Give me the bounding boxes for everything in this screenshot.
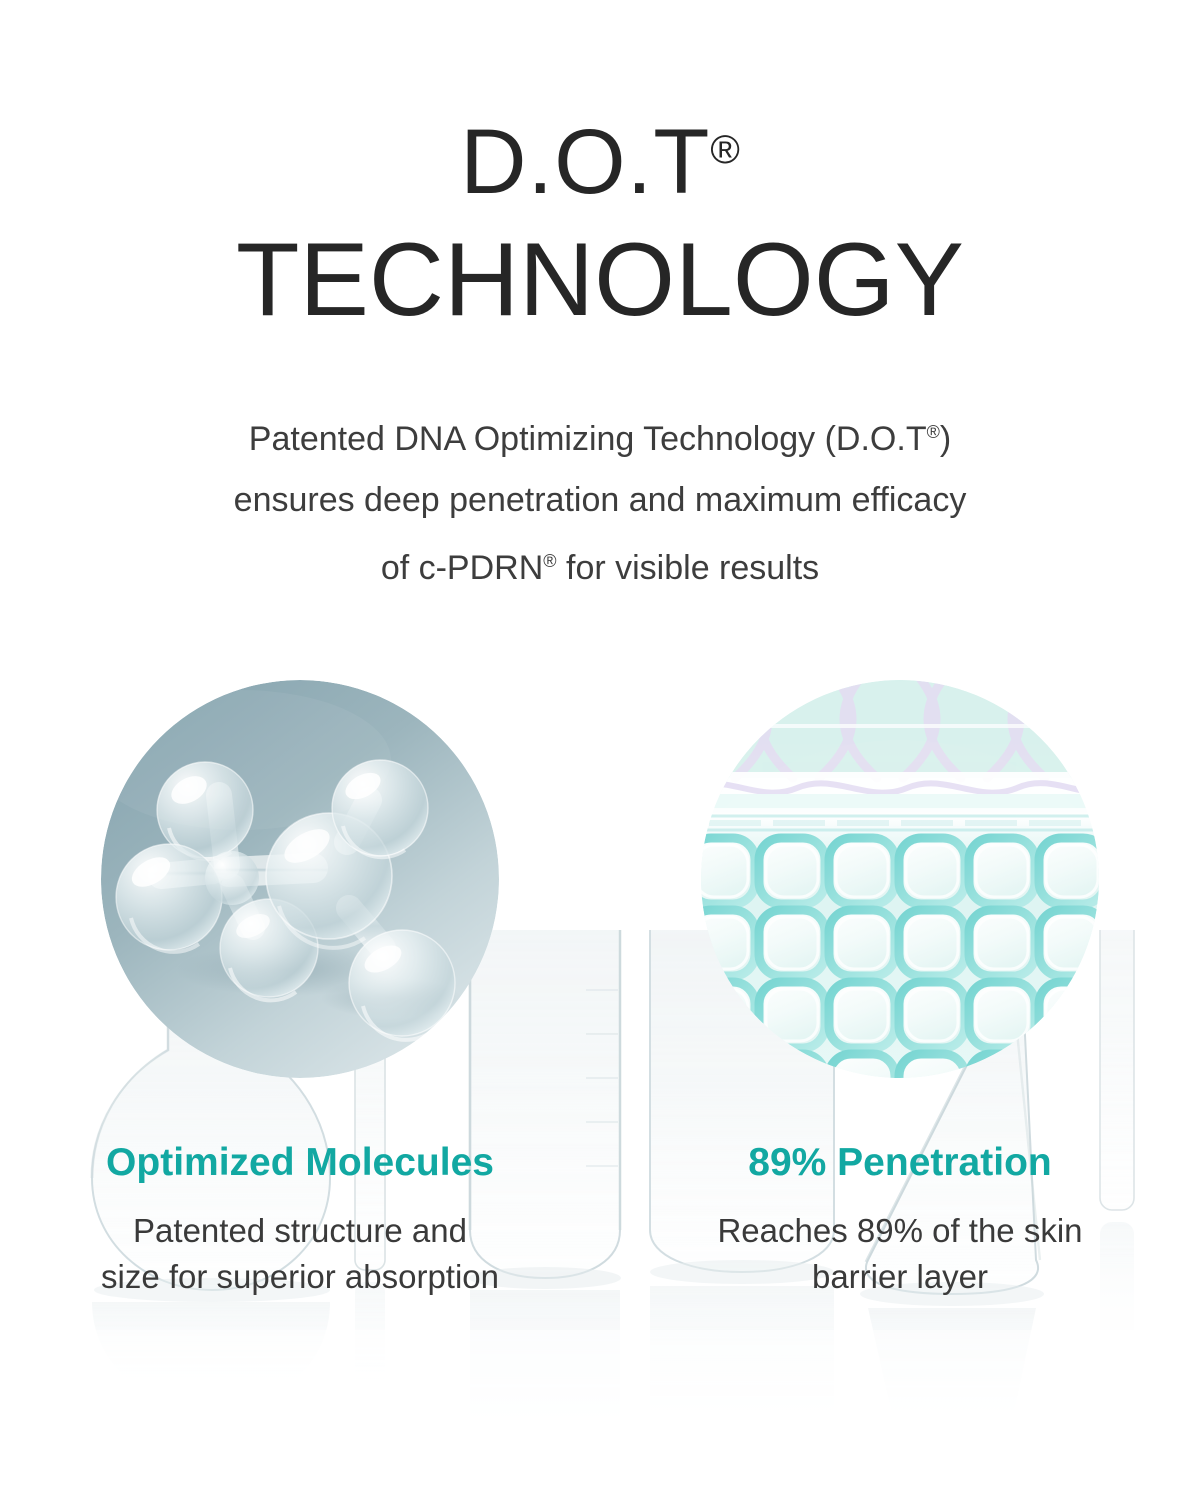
skin-penetration-image — [701, 680, 1099, 1078]
title-line-dot: D.O.T® — [0, 98, 1200, 214]
subtitle-line-1: Patented DNA Optimizing Technology (D.O.… — [100, 402, 1100, 470]
subtitle-line-3: of c-PDRN® for visible results — [100, 531, 1100, 599]
registered-trademark-icon: ® — [710, 128, 739, 172]
feature-title-penetration: 89% Penetration — [748, 1140, 1051, 1186]
feature-description-optimized-molecules: Patented structure and size for superior… — [100, 1208, 500, 1300]
page-title: D.O.T® TECHNOLOGY — [0, 98, 1200, 336]
feature-title-optimized-molecules: Optimized Molecules — [106, 1140, 494, 1186]
title-line-technology: TECHNOLOGY — [0, 224, 1200, 336]
subtitle-line-3-tail: for visible results — [557, 549, 820, 587]
feature-description-penetration: Reaches 89% of the skin barrier layer — [700, 1208, 1100, 1300]
title-dot-text: D.O.T — [460, 111, 710, 213]
registered-trademark-icon: ® — [543, 551, 556, 571]
subtitle: Patented DNA Optimizing Technology (D.O.… — [100, 402, 1100, 599]
subtitle-line-2: ensures deep penetration and maximum eff… — [100, 470, 1100, 531]
subtitle-line-1-text: Patented DNA Optimizing Technology (D.O.… — [249, 420, 927, 458]
dot-technology-infographic: D.O.T® TECHNOLOGY Patented DNA Optimizin… — [0, 0, 1200, 1500]
subtitle-line-3-text: of c-PDRN — [381, 549, 543, 587]
feature-column-penetration: 89% Penetration Reaches 89% of the skin … — [600, 680, 1200, 1380]
optimized-molecules-image — [101, 680, 499, 1078]
feature-columns: Optimized Molecules Patented structure a… — [0, 680, 1200, 1380]
feature-column-optimized-molecules: Optimized Molecules Patented structure a… — [0, 680, 600, 1380]
registered-trademark-icon: ® — [927, 422, 940, 442]
subtitle-line-1-close-paren: ) — [940, 420, 951, 458]
